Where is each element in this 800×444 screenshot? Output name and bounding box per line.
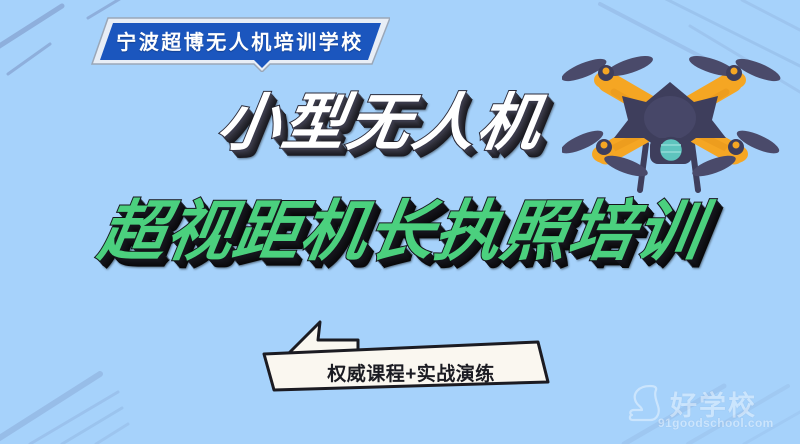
watermark-url: 91goodschool.com	[658, 416, 774, 430]
quadcopter-drone-icon	[562, 26, 792, 201]
school-name-ribbon: 宁波超博无人机培训学校	[84, 16, 390, 72]
headline-secondary: 超视距机长执照培训	[95, 198, 708, 264]
headline-primary: 小型无人机	[213, 93, 548, 155]
school-name-text: 宁波超博无人机培训学校	[84, 16, 390, 64]
callout-text: 权威课程+实战演练	[262, 352, 550, 392]
site-watermark: 好学校 91goodschool.com	[624, 382, 792, 438]
promo-poster: 宁波超博无人机培训学校 小型无人机 超视距机长执照培训 权威课程+实战演练	[0, 0, 800, 444]
watermark-brand: 好学校	[670, 384, 757, 423]
course-callout-banner: 权威课程+实战演练	[262, 318, 550, 392]
thumbs-up-icon	[624, 382, 666, 426]
